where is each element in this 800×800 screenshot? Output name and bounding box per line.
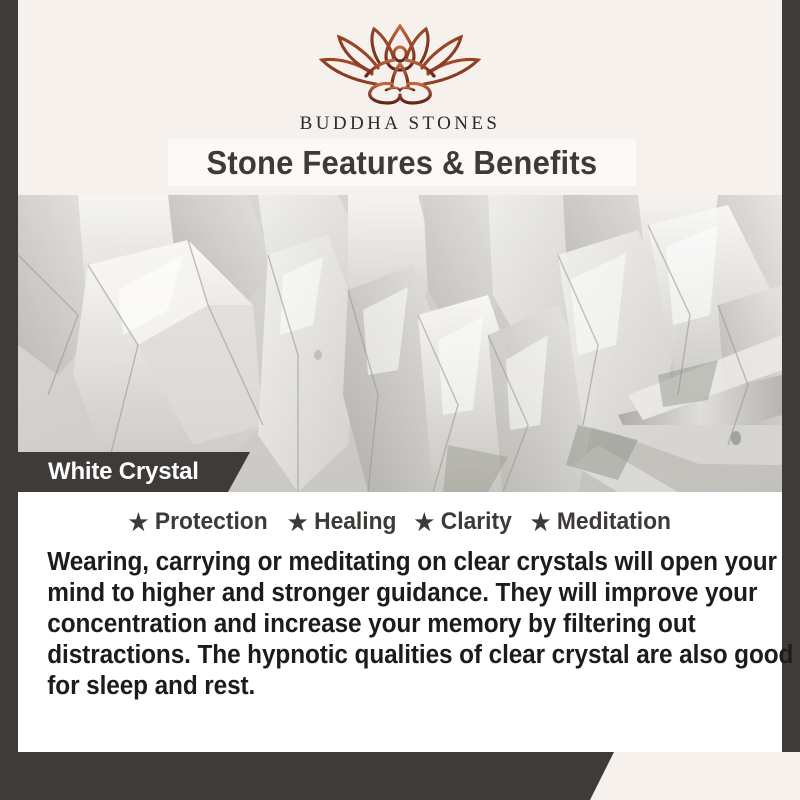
stone-photo: White Crystal — [18, 195, 782, 492]
lotus-meditation-icon — [314, 24, 486, 106]
brand-logo: BUDDHA STONES — [18, 24, 782, 135]
stone-name-label: White Crystal — [48, 458, 199, 486]
crystal-cluster-image — [18, 195, 782, 492]
frame-left-bar — [0, 0, 18, 800]
description-text: Wearing, carrying or meditating on clear… — [32, 547, 796, 702]
benefit-meditation: ★ Meditation — [531, 508, 671, 536]
benefit-label: Meditation — [557, 508, 671, 536]
frame-bottom-right-notch — [590, 752, 800, 800]
benefits-row: ★ Protection ★ Healing ★ Clarity ★ Medit… — [32, 508, 768, 536]
title-banner: Stone Features & Benefits — [168, 139, 636, 186]
infographic-card: BUDDHA STONES Stone Features & Benefits — [0, 0, 800, 800]
benefit-label: Protection — [155, 508, 268, 536]
benefit-label: Healing — [314, 508, 396, 536]
header: BUDDHA STONES Stone Features & Benefits — [18, 0, 782, 195]
benefit-clarity: ★ Clarity — [414, 508, 511, 536]
star-icon: ★ — [287, 511, 307, 534]
benefit-protection: ★ Protection — [129, 508, 268, 536]
page-title: Stone Features & Benefits — [207, 144, 598, 182]
benefit-healing: ★ Healing — [287, 508, 396, 536]
stone-name-badge: White Crystal — [18, 452, 250, 492]
content-panel: ★ Protection ★ Healing ★ Clarity ★ Medit… — [18, 492, 782, 752]
benefit-label: Clarity — [441, 508, 512, 536]
star-icon: ★ — [414, 511, 434, 534]
brand-wordmark: BUDDHA STONES — [300, 113, 501, 135]
star-icon: ★ — [531, 511, 551, 534]
star-icon: ★ — [129, 511, 149, 534]
